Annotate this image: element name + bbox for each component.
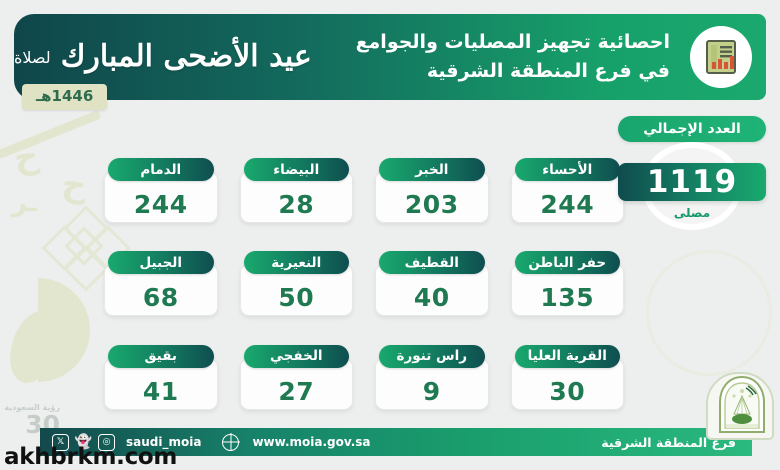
deco-diamond (41, 225, 86, 270)
city-stat-value: 27 (278, 379, 314, 404)
watermark-text: akhbrkm.com (4, 444, 177, 470)
eid-prefix-text: لصلاة (14, 48, 51, 67)
deco-arabic-glyph: ح (60, 167, 88, 203)
city-stat-card: 50النعيرية (240, 251, 354, 319)
page-title: احصائية تجهيز المصليات والجوامع في فرع ا… (240, 28, 670, 85)
city-stat-label: الخبر (379, 158, 485, 181)
report-chart-icon (690, 26, 752, 88)
city-stat-label: الدمام (108, 158, 214, 181)
city-stat-value: 135 (540, 285, 594, 310)
city-stat-card: 68الجبيل (104, 251, 218, 319)
page-title-line1: احصائية تجهيز المصليات والجوامع (356, 31, 670, 53)
city-stat-value: 50 (278, 285, 314, 310)
city-stat-card: 9راس تنورة (375, 345, 489, 413)
city-stat-value: 68 (143, 285, 179, 310)
total-value: 1119 (618, 163, 766, 201)
city-stat-card: 40القطيف (375, 251, 489, 319)
deco-half-circle (38, 278, 90, 382)
moia-emblem-logo (706, 372, 774, 440)
city-stat-card: 135حفر الباطن (511, 251, 625, 319)
city-stats-grid: 244الأحساء203الخبر28البيضاء244الدمام135ح… (104, 158, 624, 420)
total-counter: العدد الإجمالي 1119 مصلى (616, 116, 766, 234)
city-stat-card: 30القرية العليا (511, 345, 625, 413)
city-stat-card: 203الخبر (375, 158, 489, 226)
deco-arabic-glyph: ح (63, 294, 89, 326)
infographic-canvas: ح ح ـر ح عيد الأضحى المبارك لصلاة احصائي… (0, 0, 780, 470)
city-stat-label: القرية العليا (515, 345, 621, 368)
deco-diamond (63, 205, 108, 250)
city-stat-value: 203 (405, 192, 459, 217)
city-stat-label: القطيف (379, 251, 485, 274)
city-stat-value: 40 (414, 285, 450, 310)
deco-diamond (64, 226, 104, 266)
city-stat-label: حفر الباطن (515, 251, 621, 274)
city-stat-value: 41 (143, 379, 179, 404)
hijri-year-badge: 1446هـ (22, 84, 107, 110)
city-stat-label: الجبيل (108, 251, 214, 274)
city-stat-label: البيضاء (244, 158, 350, 181)
deco-bar-shape (0, 110, 102, 160)
city-stat-value: 9 (423, 379, 441, 404)
city-stat-card: 41بقيق (104, 345, 218, 413)
deco-circle-outline (646, 250, 772, 376)
city-stat-value: 28 (278, 192, 314, 217)
total-unit: مصلى (642, 206, 742, 220)
globe-icon (222, 434, 239, 451)
city-stat-label: بقيق (108, 345, 214, 368)
city-stat-card: 244الأحساء (511, 158, 625, 226)
deco-diamond (63, 246, 108, 291)
website-url[interactable]: www.moia.gov.sa (252, 435, 370, 449)
header-banner: عيد الأضحى المبارك لصلاة احصائية تجهيز ا… (14, 14, 766, 100)
city-stat-label: راس تنورة (379, 345, 485, 368)
city-stat-card: 244الدمام (104, 158, 218, 226)
deco-arabic-glyph: ـر (12, 190, 37, 216)
city-stat-label: الخفجي (244, 345, 350, 368)
city-stat-label: الأحساء (515, 158, 621, 181)
city-stat-value: 30 (549, 379, 585, 404)
total-label: العدد الإجمالي (618, 116, 766, 142)
page-title-line2: في فرع المنطقة الشرقية (240, 57, 670, 86)
city-stat-value: 244 (540, 192, 594, 217)
deco-arabic-glyph: ح (12, 138, 41, 175)
deco-ellipse (2, 305, 67, 389)
city-stat-label: النعيرية (244, 251, 350, 274)
city-stat-card: 28البيضاء (240, 158, 354, 226)
city-stat-value: 244 (134, 192, 188, 217)
city-stat-card: 27الخفجي (240, 345, 354, 413)
